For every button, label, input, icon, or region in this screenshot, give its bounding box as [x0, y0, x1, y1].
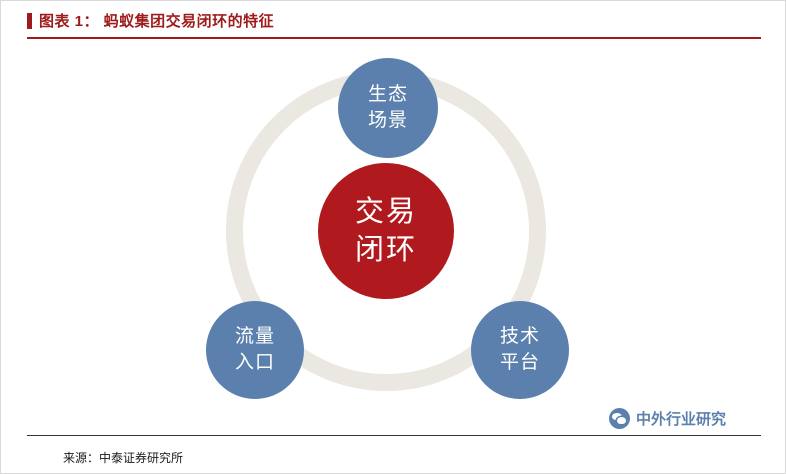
footer-divider: [27, 435, 761, 436]
node-traffic-entry: 流量 入口: [206, 301, 304, 399]
figure-page: 图表 1： 蚂蚁集团交易闭环的特征 交易 闭环 生态 场景 流量 入口 技术 平…: [0, 0, 786, 474]
title-accent-bar: [27, 13, 32, 29]
wechat-icon: [609, 408, 630, 429]
title-divider: [27, 37, 761, 39]
node-technology-platform: 技术 平台: [471, 301, 569, 399]
cycle-diagram: 交易 闭环 生态 场景 流量 入口 技术 平台: [191, 41, 611, 431]
source-note: 来源：中泰证券研究所: [63, 449, 183, 466]
node-left-line-1: 流量: [235, 324, 275, 350]
node-top-line-1: 生态: [368, 82, 408, 108]
center-node-line-2: 闭环: [355, 231, 417, 269]
center-node-transaction-loop: 交易 闭环: [318, 163, 454, 299]
node-ecosystem-scenario: 生态 场景: [338, 58, 438, 158]
center-node-line-1: 交易: [355, 193, 417, 231]
node-left-line-2: 入口: [235, 350, 275, 376]
page-title: 图表 1： 蚂蚁集团交易闭环的特征: [39, 10, 274, 31]
watermark-account: 中外行业研究: [609, 405, 761, 431]
watermark-account-name: 中外行业研究: [636, 408, 726, 429]
node-right-line-1: 技术: [500, 324, 540, 350]
node-top-line-2: 场景: [368, 108, 408, 134]
node-right-line-2: 平台: [500, 350, 540, 376]
figure-header: 图表 1： 蚂蚁集团交易闭环的特征: [1, 1, 786, 39]
